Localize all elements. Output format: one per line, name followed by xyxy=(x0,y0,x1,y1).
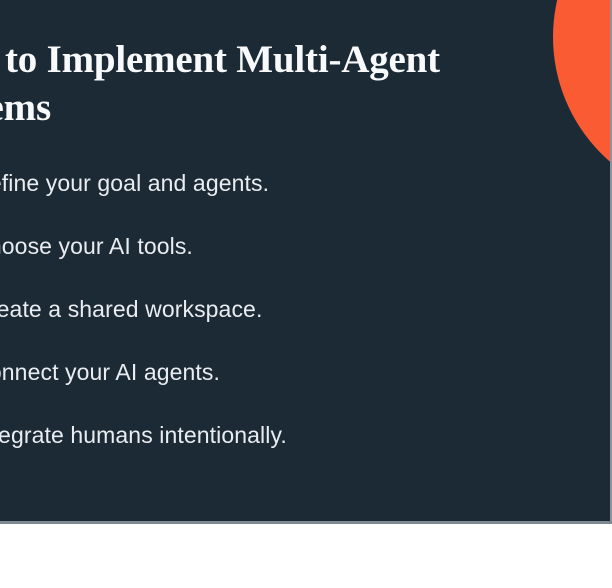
slide-stage: How to Implement Multi-Agent Systems 1. … xyxy=(0,0,612,588)
list-item: 4. Connect your AI agents. xyxy=(0,357,606,420)
step-text: Create a shared workspace. xyxy=(0,294,262,324)
steps-list: 1. Define your goal and agents. 2. Choos… xyxy=(0,168,606,483)
page-background-below-slide xyxy=(0,524,612,588)
step-text: Define your goal and agents. xyxy=(0,168,269,198)
page-title: How to Implement Multi-Agent Systems xyxy=(0,36,558,132)
step-text: Choose your AI tools. xyxy=(0,231,193,261)
title-block: How to Implement Multi-Agent Systems xyxy=(0,36,558,132)
slide-panel: How to Implement Multi-Agent Systems 1. … xyxy=(0,0,612,522)
step-text: Connect your AI agents. xyxy=(0,357,220,387)
list-item: 1. Define your goal and agents. xyxy=(0,168,606,231)
step-text: Integrate humans intentionally. xyxy=(0,420,287,450)
list-item: 2. Choose your AI tools. xyxy=(0,231,606,294)
list-item: 3. Create a shared workspace. xyxy=(0,294,606,357)
list-item: 5. Integrate humans intentionally. xyxy=(0,420,606,483)
